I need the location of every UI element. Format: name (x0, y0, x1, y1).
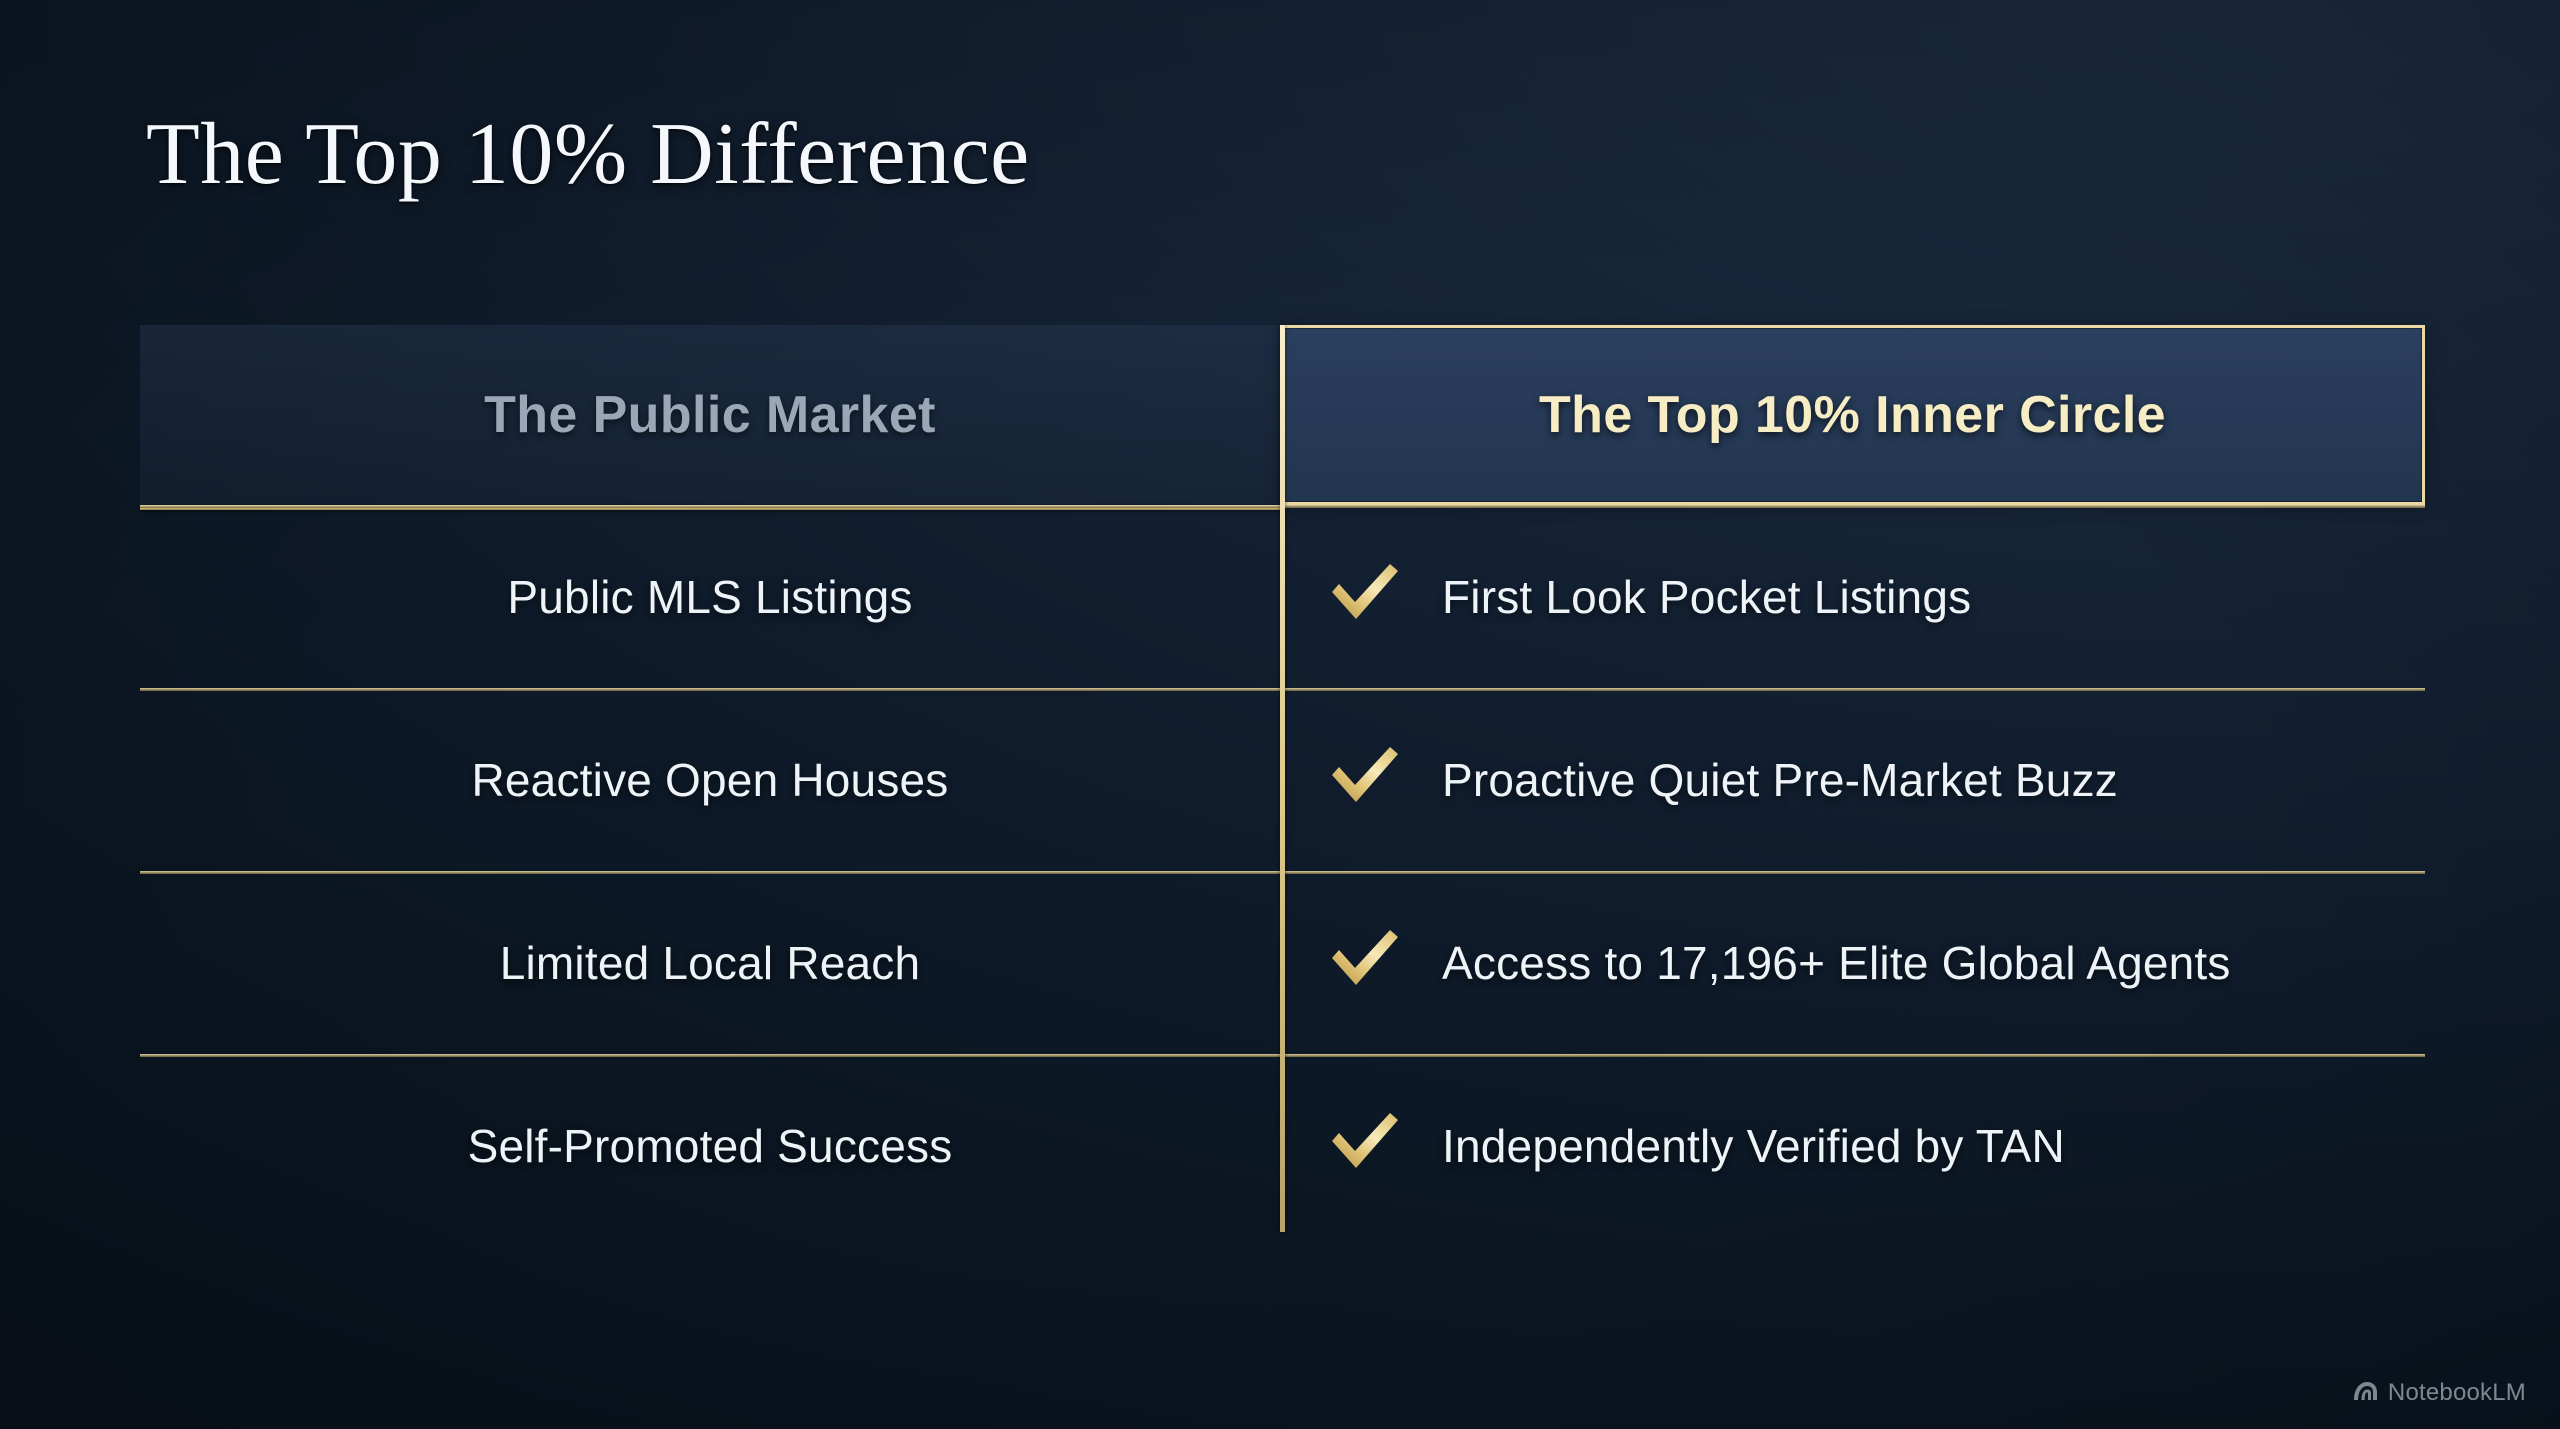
check-icon (1328, 745, 1402, 814)
notebooklm-spiral-icon (2352, 1380, 2378, 1407)
public-market-item-label: Reactive Open Houses (471, 753, 948, 807)
inner-circle-item-label: Independently Verified by TAN (1442, 1119, 2065, 1173)
table-cell-public-market: Public MLS Listings (140, 505, 1280, 688)
notebooklm-watermark: NotebookLM (2352, 1379, 2526, 1407)
check-icon (1328, 928, 1402, 997)
column-header-inner-circle: The Top 10% Inner Circle (1280, 325, 2425, 505)
inner-circle-item-label: Proactive Quiet Pre-Market Buzz (1442, 753, 2118, 807)
table-cell-inner-circle: Access to 17,196+ Elite Global Agents (1280, 871, 2425, 1054)
table-cell-inner-circle: Proactive Quiet Pre-Market Buzz (1280, 688, 2425, 871)
table-cell-inner-circle: Independently Verified by TAN (1280, 1054, 2425, 1237)
table-cell-inner-circle: First Look Pocket Listings (1280, 505, 2425, 688)
public-market-item-label: Self-Promoted Success (468, 1119, 953, 1173)
column-divider (1280, 325, 1285, 1232)
table-cell-public-market: Reactive Open Houses (140, 688, 1280, 871)
table-cell-public-market: Self-Promoted Success (140, 1054, 1280, 1237)
comparison-table: The Public Market The Top 10% Inner Circ… (140, 325, 2425, 1237)
public-market-item-label: Public MLS Listings (507, 570, 912, 624)
table-cell-public-market: Limited Local Reach (140, 871, 1280, 1054)
check-icon (1328, 562, 1402, 631)
inner-circle-item-label: Access to 17,196+ Elite Global Agents (1442, 936, 2231, 990)
column-header-public-market-label: The Public Market (484, 385, 936, 445)
inner-circle-item-label: First Look Pocket Listings (1442, 570, 1971, 624)
column-header-inner-circle-label: The Top 10% Inner Circle (1539, 385, 2166, 445)
column-header-public-market: The Public Market (140, 325, 1280, 505)
notebooklm-watermark-label: NotebookLM (2388, 1379, 2526, 1407)
page-title: The Top 10% Difference (146, 104, 1030, 205)
public-market-item-label: Limited Local Reach (500, 936, 921, 990)
check-icon (1328, 1111, 1402, 1180)
